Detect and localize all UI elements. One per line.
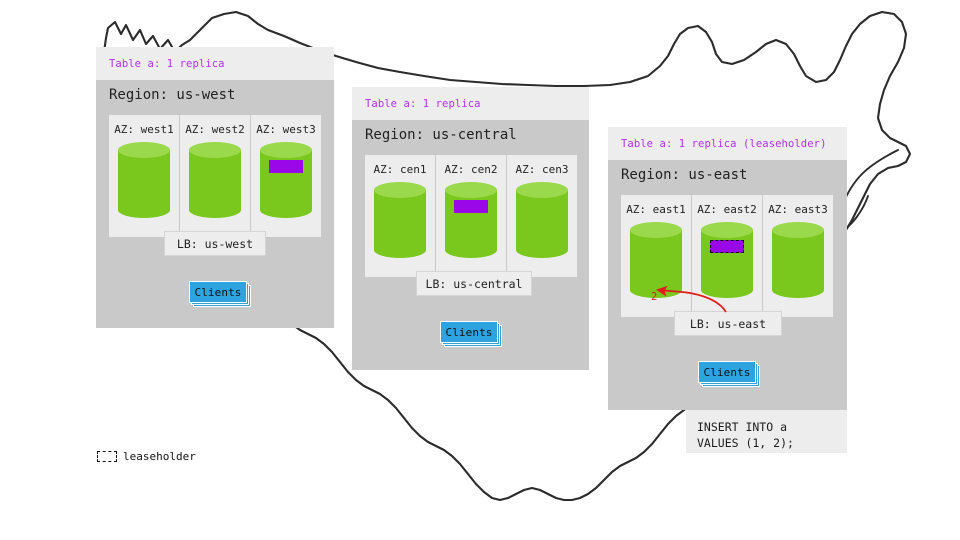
az-strip-us-west: AZ: west1 AZ: west2 AZ: west3 xyxy=(109,115,321,237)
replica-block-leaseholder[interactable] xyxy=(710,240,744,253)
lb-label: LB: us-east xyxy=(690,317,766,331)
region-title-us-central: Region: us-central xyxy=(365,127,517,143)
db-node-cylinder[interactable] xyxy=(189,142,241,217)
table-replica-label: Table a: 1 replica xyxy=(109,58,225,70)
az-label: AZ: east3 xyxy=(768,203,828,216)
az-cell-cen1[interactable]: AZ: cen1 xyxy=(365,155,435,277)
clients-label: Clients xyxy=(194,286,241,299)
db-node-cylinder[interactable] xyxy=(445,182,497,257)
region-panel-us-central: Table a: 1 replica Region: us-central AZ… xyxy=(352,87,589,370)
db-node-cylinder[interactable] xyxy=(701,222,753,297)
az-label: AZ: cen2 xyxy=(445,163,498,176)
client-card-front[interactable]: Clients xyxy=(698,361,756,383)
db-node-cylinder[interactable] xyxy=(772,222,824,297)
lb-label: LB: us-west xyxy=(177,237,253,251)
arrow-step-label: 2 xyxy=(651,291,657,303)
db-node-cylinder[interactable] xyxy=(374,182,426,257)
region-header-us-central: Table a: 1 replica xyxy=(352,87,589,120)
az-label: AZ: cen3 xyxy=(516,163,569,176)
legend-leaseholder: leaseholder xyxy=(97,450,196,463)
az-cell-west3[interactable]: AZ: west3 xyxy=(250,115,321,237)
lb-label: LB: us-central xyxy=(426,277,523,291)
db-node-cylinder[interactable] xyxy=(260,142,312,217)
az-label: AZ: east1 xyxy=(626,203,686,216)
table-replica-label: Table a: 1 replica xyxy=(365,98,481,110)
diagram-canvas: Table a: 1 replica Region: us-west AZ: w… xyxy=(0,0,960,540)
az-cell-cen2[interactable]: AZ: cen2 xyxy=(435,155,506,277)
region-panel-us-east: Table a: 1 replica (leaseholder) Region:… xyxy=(608,127,847,410)
clients-label: Clients xyxy=(445,326,492,339)
az-cell-east3[interactable]: AZ: east3 xyxy=(762,195,833,317)
region-header-us-west: Table a: 1 replica xyxy=(96,47,334,80)
az-label: AZ: cen1 xyxy=(374,163,427,176)
load-balancer-us-west[interactable]: LB: us-west xyxy=(164,231,266,256)
region-header-us-east: Table a: 1 replica (leaseholder) xyxy=(608,127,847,160)
replica-block[interactable] xyxy=(454,200,488,213)
client-card-front[interactable]: Clients xyxy=(440,321,498,343)
az-cell-east2[interactable]: AZ: east2 xyxy=(691,195,762,317)
az-label: AZ: east2 xyxy=(697,203,757,216)
load-balancer-us-east[interactable]: LB: us-east xyxy=(674,311,782,336)
db-node-cylinder[interactable] xyxy=(118,142,170,217)
region-panel-us-west: Table a: 1 replica Region: us-west AZ: w… xyxy=(96,47,334,328)
client-card-front[interactable]: Clients xyxy=(189,281,247,303)
dashed-rectangle-icon xyxy=(97,451,117,462)
az-cell-west1[interactable]: AZ: west1 xyxy=(109,115,179,237)
az-strip-us-central: AZ: cen1 AZ: cen2 AZ: cen3 xyxy=(365,155,577,277)
clients-stack-us-east[interactable]: Clients xyxy=(698,361,760,385)
load-balancer-us-central[interactable]: LB: us-central xyxy=(416,271,532,296)
az-label: AZ: west2 xyxy=(185,123,245,136)
az-label: AZ: west3 xyxy=(256,123,316,136)
az-cell-west2[interactable]: AZ: west2 xyxy=(179,115,250,237)
region-title-us-west: Region: us-west xyxy=(109,87,235,103)
replica-block[interactable] xyxy=(269,160,303,173)
az-cell-cen3[interactable]: AZ: cen3 xyxy=(506,155,577,277)
sql-statement-box: INSERT INTO a VALUES (1, 2); xyxy=(686,410,847,453)
legend-label: leaseholder xyxy=(123,450,196,463)
db-node-cylinder[interactable] xyxy=(516,182,568,257)
clients-stack-us-central[interactable]: Clients xyxy=(440,321,502,345)
clients-label: Clients xyxy=(703,366,750,379)
table-replica-label: Table a: 1 replica (leaseholder) xyxy=(621,138,827,150)
db-node-cylinder[interactable] xyxy=(630,222,682,297)
clients-stack-us-west[interactable]: Clients xyxy=(189,281,251,305)
region-title-us-east: Region: us-east xyxy=(621,167,747,183)
az-label: AZ: west1 xyxy=(114,123,174,136)
